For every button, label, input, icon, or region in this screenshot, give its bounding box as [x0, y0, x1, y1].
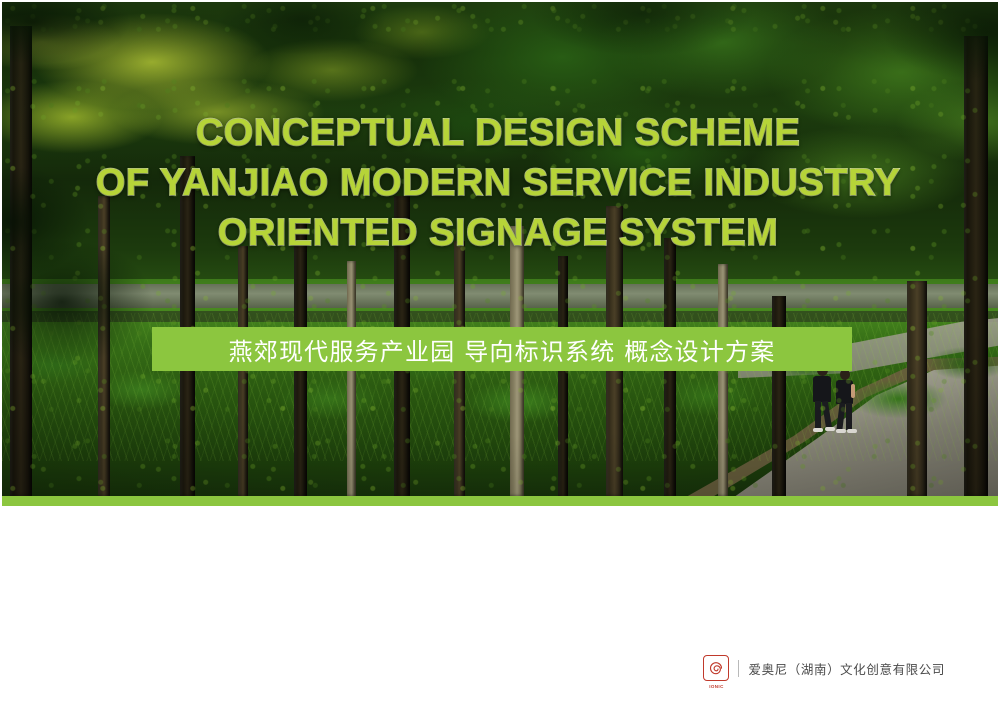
ionic-logo-wordmark: IONIC	[704, 684, 728, 689]
subtitle-banner: 燕郊现代服务产业园 导向标识系统 概念设计方案	[152, 327, 852, 371]
footer: IONIC 爱奥尼（湖南）文化创意有限公司	[703, 655, 945, 681]
title-slide: CONCEPTUAL DESIGN SCHEME OF YANJIAO MODE…	[0, 0, 1000, 707]
company-name: 爱奥尼（湖南）文化创意有限公司	[748, 659, 945, 678]
title-line-2: OF YANJIAO MODERN SERVICE INDUSTRY	[0, 158, 996, 208]
accent-stripe	[2, 496, 998, 506]
ionic-logo-icon: IONIC	[703, 655, 729, 681]
subtitle-banner-text: 燕郊现代服务产业园 导向标识系统 概念设计方案	[229, 332, 776, 367]
title-line-3: ORIENTED SIGNAGE SYSTEM	[0, 208, 996, 258]
slide-title: CONCEPTUAL DESIGN SCHEME OF YANJIAO MODE…	[0, 108, 996, 258]
title-line-1: CONCEPTUAL DESIGN SCHEME	[0, 108, 996, 158]
footer-divider	[738, 660, 739, 677]
